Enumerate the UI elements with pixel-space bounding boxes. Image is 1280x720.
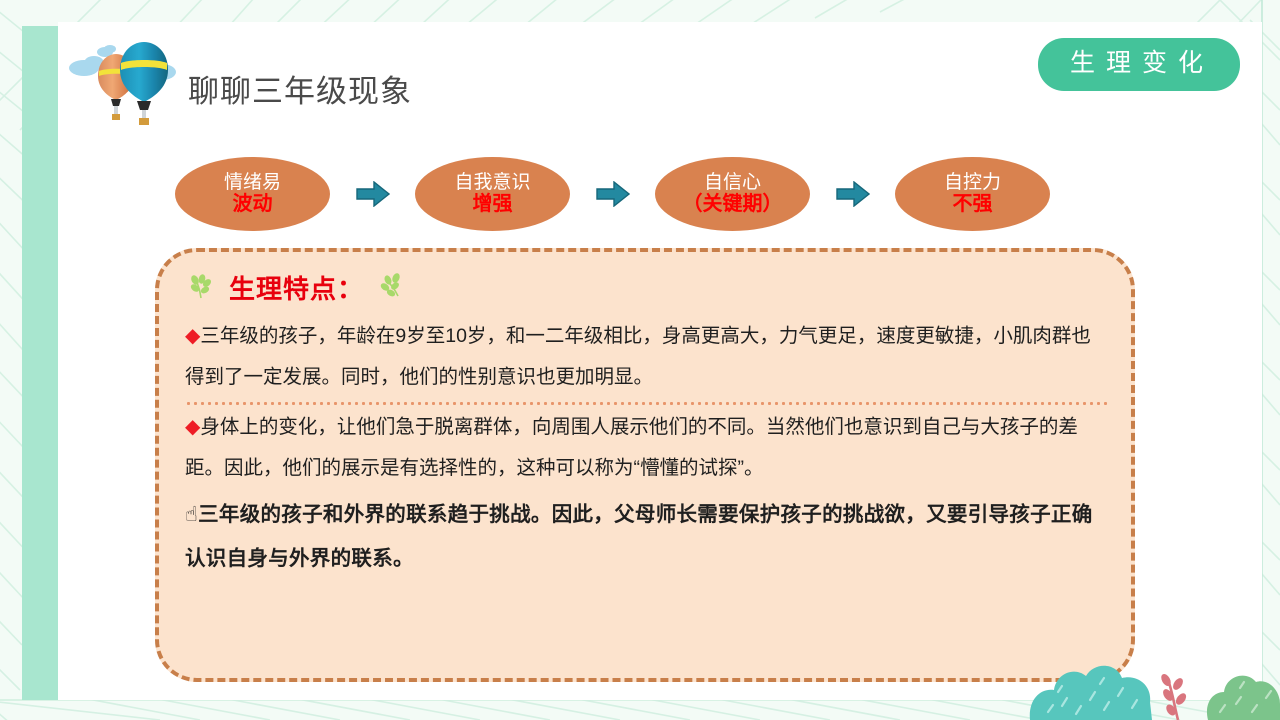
flow-node-4[interactable]: 自控力 不强 [895, 157, 1050, 231]
leaf-sprig-icon [376, 272, 406, 302]
hot-air-balloons-icon [58, 30, 188, 130]
arrow-right-icon [596, 181, 630, 207]
card-paragraph-text: 身体上的变化，让他们急于脱离群体，向周围人展示他们的不同。当然他们也意识到自己与… [185, 416, 1078, 479]
card-paragraph-text: 三年级的孩子，年龄在9岁至10岁，和一二年级相比，身高更高大，力气更足，速度更敏… [185, 325, 1091, 388]
diamond-bullet-icon: ◆ [185, 325, 200, 347]
card-paragraph-2: ◆身体上的变化，让他们急于脱离群体，向周围人展示他们的不同。当然他们也意识到自己… [185, 407, 1109, 489]
status-badge: 生理变化 [1038, 38, 1240, 91]
physiology-card: 生理特点： ◆三年级的孩子，年龄在9岁至10岁，和一二年级相比，身高更高大，力气… [155, 248, 1135, 682]
flow-arrow-1-wrap [330, 181, 415, 207]
arrow-right-icon [356, 181, 390, 207]
flow-node-label-primary: 自控力 [944, 173, 1001, 193]
flow-arrow-3-wrap [810, 181, 895, 207]
pointing-hand-icon: ☝ [185, 503, 198, 526]
leaf-sprig-icon [187, 272, 217, 302]
dotted-divider [185, 402, 1109, 405]
flow-node-label-accent: 不强 [953, 194, 993, 215]
flow-node-label-primary: 自我意识 [454, 173, 530, 193]
diamond-bullet-icon: ◆ [185, 416, 200, 438]
flow-node-2[interactable]: 自我意识 增强 [415, 157, 570, 231]
flow-node-3[interactable]: 自信心 （关键期） [655, 157, 810, 231]
flow-arrow-2-wrap [570, 181, 655, 207]
flow-node-label-accent: （关键期） [683, 194, 783, 215]
card-paragraph-text: 三年级的孩子和外界的联系趋于挑战。因此，父母师长需要保护孩子的挑战欲，又要引导孩… [185, 503, 1093, 570]
card-paragraph-3: ☝三年级的孩子和外界的联系趋于挑战。因此，父母师长需要保护孩子的挑战欲，又要引导… [185, 493, 1109, 581]
slide-header: 聊聊三年级现象 生理变化 [58, 22, 1262, 142]
flow-node-label-accent: 增强 [473, 194, 513, 215]
arrow-right-icon [836, 181, 870, 207]
slide-canvas: 聊聊三年级现象 生理变化 情绪易 波动 自我意识 增强 自信心 （关键期） [0, 0, 1280, 720]
flow-node-label-accent: 波动 [233, 194, 273, 215]
card-body: ◆三年级的孩子，年龄在9岁至10岁，和一二年级相比，身高更高大，力气更足，速度更… [185, 316, 1109, 581]
card-paragraph-1: ◆三年级的孩子，年龄在9岁至10岁，和一二年级相比，身高更高大，力气更足，速度更… [185, 316, 1109, 398]
mint-accent-bar [22, 26, 60, 700]
card-header: 生理特点： [187, 266, 406, 308]
page-title: 聊聊三年级现象 [188, 66, 412, 111]
card-title: 生理特点： [223, 269, 370, 306]
flow-node-label-primary: 情绪易 [224, 173, 281, 193]
process-flow: 情绪易 波动 自我意识 增强 自信心 （关键期） 自控力 [175, 152, 1050, 236]
flow-node-label-primary: 自信心 [704, 173, 761, 193]
flow-node-1[interactable]: 情绪易 波动 [175, 157, 330, 231]
